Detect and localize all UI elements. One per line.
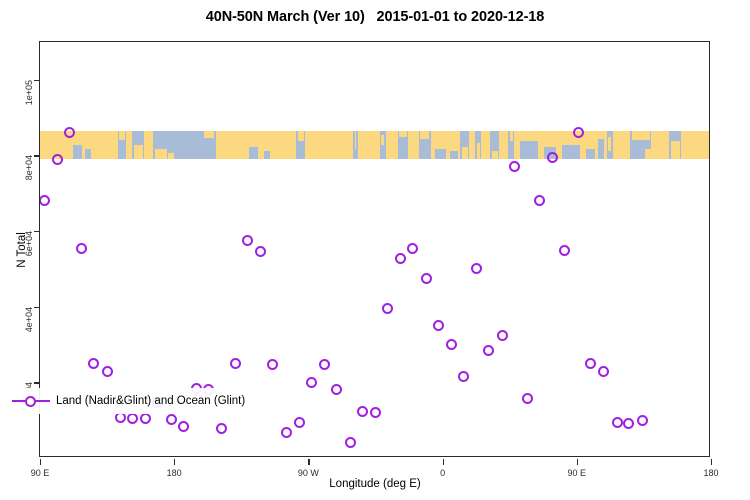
x-tick-mark xyxy=(40,459,41,465)
data-point xyxy=(102,366,113,377)
land-ocean-coastline-strip xyxy=(40,131,709,159)
data-point xyxy=(88,358,99,369)
y-tick-label-4: 1e+05 xyxy=(24,80,34,105)
land-detail xyxy=(355,131,356,149)
land-segment xyxy=(613,131,631,159)
land-segment xyxy=(126,131,132,159)
y-tick-label-2: 6e+04 xyxy=(24,231,34,256)
land-detail xyxy=(645,149,651,159)
data-point xyxy=(242,235,253,246)
data-point xyxy=(395,253,406,264)
land-detail xyxy=(420,131,429,139)
land-detail xyxy=(155,149,167,159)
data-point xyxy=(433,320,444,331)
data-point xyxy=(382,303,393,314)
land-detail xyxy=(119,131,125,140)
data-point xyxy=(267,359,278,370)
data-point xyxy=(166,414,177,425)
data-point xyxy=(345,437,356,448)
land-segment xyxy=(358,131,380,159)
legend-marker-icon xyxy=(12,396,50,407)
x-tick-label-2: 90 W xyxy=(298,468,319,478)
y-tick-mark xyxy=(34,307,40,308)
y-tick-label-3: 8e+04 xyxy=(24,155,34,180)
land-segment xyxy=(144,131,153,159)
data-point xyxy=(357,406,368,417)
data-point xyxy=(294,417,305,428)
x-tick-label-3: 0 xyxy=(440,468,445,478)
land-detail xyxy=(204,131,214,138)
land-detail xyxy=(608,137,611,151)
ocean-inlet xyxy=(450,151,457,159)
data-point xyxy=(585,358,596,369)
land-detail xyxy=(632,131,650,140)
page-title: 40N-50N March (Ver 10) 2015-01-01 to 202… xyxy=(0,9,750,25)
land-segment xyxy=(651,131,669,159)
land-segment xyxy=(305,131,353,159)
data-point xyxy=(637,415,648,426)
y-tick-mark xyxy=(34,382,40,383)
y-tick-mark xyxy=(34,231,40,232)
land-detail xyxy=(462,147,468,159)
x-tick-mark xyxy=(577,459,578,465)
x-tick-label-4: 90 E xyxy=(568,468,587,478)
land-segment xyxy=(499,131,508,159)
y-tick-mark xyxy=(34,80,40,81)
x-tick-mark xyxy=(711,459,712,465)
ocean-inlet xyxy=(73,145,82,159)
data-point xyxy=(534,195,545,206)
land-detail xyxy=(134,145,143,159)
data-point xyxy=(612,417,623,428)
data-point xyxy=(216,423,227,434)
ocean-inlet xyxy=(598,139,604,159)
data-point xyxy=(331,384,342,395)
ocean-inlet xyxy=(264,151,270,159)
data-point xyxy=(76,243,87,254)
y-tick-mark xyxy=(34,155,40,156)
legend-item-label: Land (Nadir&Glint) and Ocean (Glint) xyxy=(56,395,245,407)
data-point xyxy=(573,127,584,138)
land-detail xyxy=(510,131,513,141)
data-point xyxy=(522,393,533,404)
land-detail xyxy=(399,131,406,137)
ocean-inlet xyxy=(85,149,91,159)
legend: Land (Nadir&Glint) and Ocean (Glint) xyxy=(6,388,251,414)
data-point xyxy=(230,358,241,369)
x-tick-label-1: 180 xyxy=(167,468,182,478)
ocean-inlet xyxy=(586,149,595,159)
ocean-inlet xyxy=(249,147,258,159)
data-point xyxy=(178,421,189,432)
data-point xyxy=(127,413,138,424)
land-detail xyxy=(381,135,384,145)
y-tick-label-1: 4e+04 xyxy=(24,307,34,332)
data-point xyxy=(458,371,469,382)
data-point xyxy=(446,339,457,350)
land-segment xyxy=(408,131,418,159)
data-point xyxy=(255,246,266,257)
ocean-inlet xyxy=(435,149,445,159)
data-point xyxy=(140,413,151,424)
land-segment xyxy=(481,131,490,159)
data-point xyxy=(497,330,508,341)
land-segment xyxy=(469,131,475,159)
ocean-inlet xyxy=(562,145,580,159)
data-point xyxy=(471,263,482,274)
land-detail xyxy=(298,131,304,141)
data-point xyxy=(319,359,330,370)
x-tick-label-5: 180 xyxy=(703,468,718,478)
x-tick-mark xyxy=(174,459,175,465)
chart-canvas: 40N-50N March (Ver 10) 2015-01-01 to 202… xyxy=(0,0,750,500)
land-detail xyxy=(168,153,174,159)
data-point xyxy=(370,407,381,418)
land-detail xyxy=(671,141,680,159)
x-tick-mark xyxy=(443,459,444,465)
land-detail xyxy=(477,143,480,159)
land-segment xyxy=(386,131,398,159)
ocean-inlet xyxy=(520,141,538,159)
data-point xyxy=(559,245,570,256)
data-point xyxy=(509,161,520,172)
data-point xyxy=(547,152,558,163)
x-tick-mark xyxy=(308,459,309,465)
data-point xyxy=(598,366,609,377)
data-point xyxy=(421,273,432,284)
data-point xyxy=(52,154,63,165)
x-axis-title: Longitude (deg E) xyxy=(0,478,750,490)
x-tick-label-0: 90 E xyxy=(31,468,50,478)
land-detail xyxy=(492,151,498,159)
data-point xyxy=(40,195,50,206)
data-point xyxy=(483,345,494,356)
data-point xyxy=(281,427,292,438)
data-point xyxy=(306,377,317,388)
land-segment xyxy=(681,131,709,159)
data-point xyxy=(407,243,418,254)
data-point xyxy=(623,418,634,429)
